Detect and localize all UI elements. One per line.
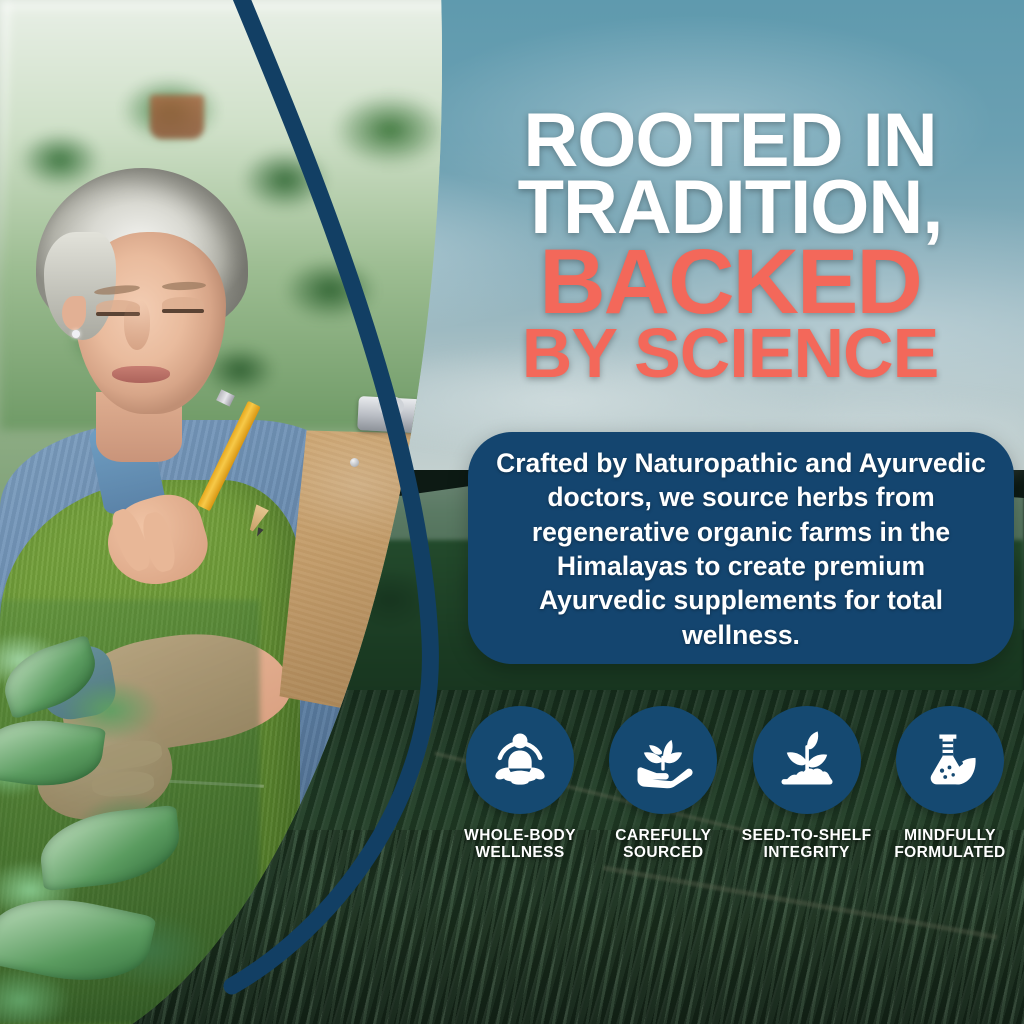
body-paragraph: Crafted by Naturopathic and Ayurvedic do… bbox=[482, 448, 1000, 650]
marketing-poster: ROOTED IN TRADITION, BACKED BY SCIENCE C… bbox=[0, 0, 1024, 1024]
lips bbox=[112, 366, 170, 383]
ear bbox=[62, 296, 86, 330]
badge-circle-2 bbox=[609, 706, 717, 814]
feature-badge-row: WHOLE-BODY WELLNESS CAREFULLY SOURCED bbox=[452, 706, 1018, 876]
badge-label-4: MINDFULLY FORMULATED bbox=[894, 827, 1005, 862]
badge-label-3: SEED-TO-SHELF INTEGRITY bbox=[742, 827, 872, 862]
earring bbox=[72, 330, 80, 338]
headline-line-3: BACKED bbox=[452, 242, 1008, 323]
badge-label-1: WHOLE-BODY WELLNESS bbox=[464, 827, 576, 862]
seedling-sprout-icon bbox=[773, 726, 841, 794]
badge-whole-body-wellness[interactable]: WHOLE-BODY WELLNESS bbox=[452, 706, 588, 876]
flask-leaf-icon bbox=[916, 726, 984, 794]
badge-circle-4 bbox=[896, 706, 1004, 814]
badge-circle-3 bbox=[753, 706, 861, 814]
meditation-lotus-icon bbox=[486, 726, 554, 794]
page-title: ROOTED IN TRADITION, BACKED BY SCIENCE bbox=[452, 108, 1008, 384]
headline-line-4: BY SCIENCE bbox=[452, 323, 1008, 385]
badge-label-2: CAREFULLY SOURCED bbox=[615, 827, 711, 862]
nose bbox=[124, 300, 150, 350]
closed-eye-right bbox=[162, 309, 204, 313]
badge-seed-to-shelf-integrity[interactable]: SEED-TO-SHELF INTEGRITY bbox=[739, 706, 875, 876]
hanging-plant-pot bbox=[150, 95, 204, 139]
clipboard-rivet-left bbox=[350, 458, 359, 467]
badge-circle-1 bbox=[466, 706, 574, 814]
badge-carefully-sourced[interactable]: CAREFULLY SOURCED bbox=[595, 706, 731, 876]
badge-mindfully-formulated[interactable]: MINDFULLY FORMULATED bbox=[882, 706, 1018, 876]
hand-holding-plant-icon bbox=[629, 726, 697, 794]
